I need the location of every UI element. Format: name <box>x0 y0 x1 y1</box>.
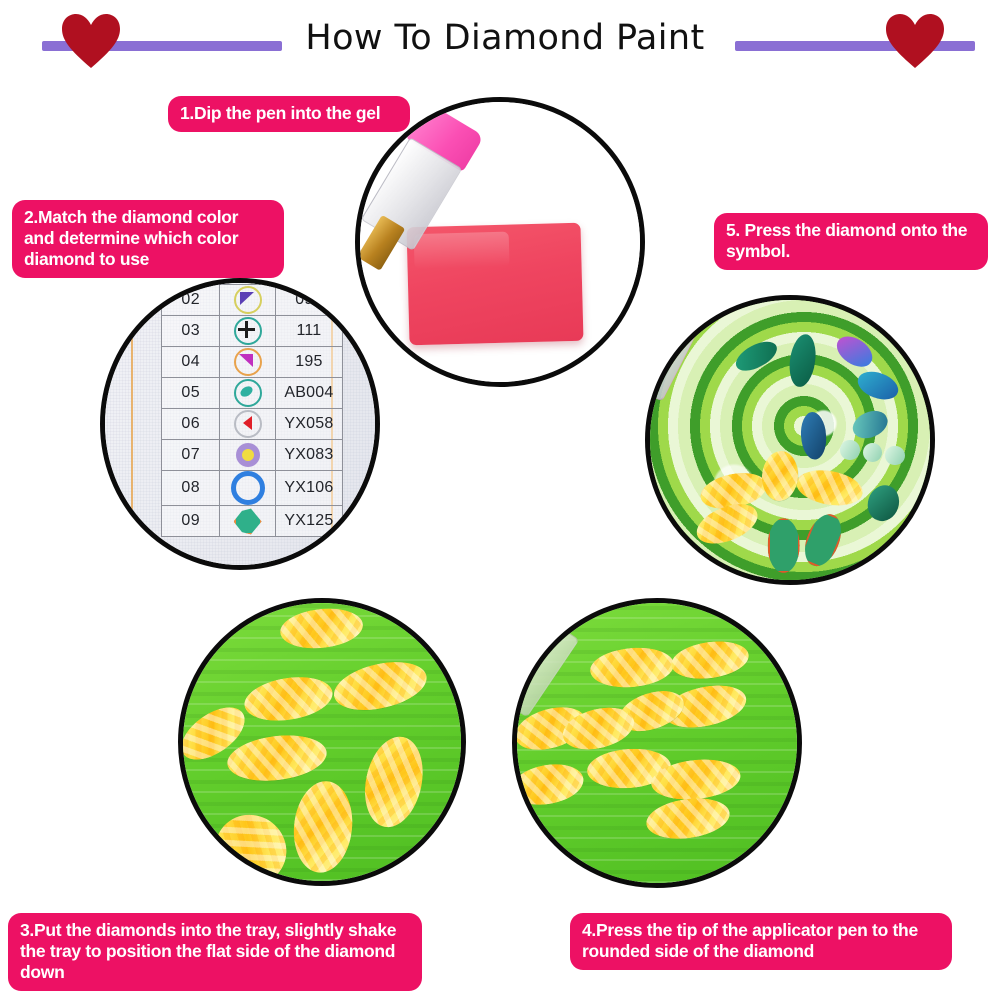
teal-plus-symbol <box>234 317 262 345</box>
table-row: 09 YX125 <box>162 506 342 537</box>
table-row: 05 AB004 <box>162 378 342 409</box>
step-2-photo: 028 02 093 03 <box>100 278 380 570</box>
chart-code: YX125 <box>276 506 343 537</box>
blue-ring-symbol <box>231 471 265 505</box>
chart-no: 08 <box>162 471 220 506</box>
table-row: 03 111 <box>162 316 342 347</box>
chart-no: 06 <box>162 409 220 440</box>
step-1-photo <box>355 97 645 387</box>
canvas-gem <box>885 446 905 466</box>
step-3-label: 3.Put the diamonds into the tray, slight… <box>8 913 422 991</box>
canvas-gem <box>840 440 860 460</box>
chart-code: 111 <box>276 316 343 347</box>
page-title: How To Diamond Paint <box>280 18 730 58</box>
step-4-photo <box>512 598 802 888</box>
table-row: 07 YX083 <box>162 440 342 471</box>
chart-code: 195 <box>276 347 343 378</box>
header: How To Diamond Paint <box>0 0 1001 90</box>
chart-no: 04 <box>162 347 220 378</box>
chart-code: 093 <box>276 285 343 316</box>
infographic-canvas: How To Diamond Paint 1.Dip the pen into … <box>0 0 1001 1001</box>
purple-triangle-symbol <box>234 286 262 314</box>
step-5-photo <box>645 295 935 585</box>
chart-code: AB004 <box>276 378 343 409</box>
chart-no: 02 <box>162 285 220 316</box>
table-row: 02 093 <box>162 285 342 316</box>
color-chart-table: 028 02 093 03 <box>161 283 342 537</box>
step-5-label: 5. Press the diamond onto the symbol. <box>714 213 988 270</box>
magenta-triangle-symbol <box>234 348 262 376</box>
chart-no: 09 <box>162 506 220 537</box>
table-row: 08 YX106 <box>162 471 342 506</box>
chart-no: 05 <box>162 378 220 409</box>
table-row: 06 YX058 <box>162 409 342 440</box>
gel-pad <box>406 223 583 345</box>
heart-icon <box>884 12 946 70</box>
chart-code: YX106 <box>276 471 343 506</box>
step-1-label: 1.Dip the pen into the gel <box>168 96 410 132</box>
heart-icon <box>60 12 122 70</box>
table-row: 04 195 <box>162 347 342 378</box>
step-3-photo <box>178 598 466 886</box>
yellow-dot-purple-ring-symbol <box>236 443 260 467</box>
teal-leaf-symbol <box>234 507 262 535</box>
step-4-label: 4.Press the tip of the applicator pen to… <box>570 913 952 970</box>
chart-no: 03 <box>162 316 220 347</box>
step-2-label: 2.Match the diamond color and determine … <box>12 200 284 278</box>
teal-oval-symbol <box>234 379 262 407</box>
chart-code: YX058 <box>276 409 343 440</box>
canvas-symbol <box>768 518 800 572</box>
red-arrow-symbol <box>234 410 262 438</box>
chart-no: 07 <box>162 440 220 471</box>
chart-code: YX083 <box>276 440 343 471</box>
